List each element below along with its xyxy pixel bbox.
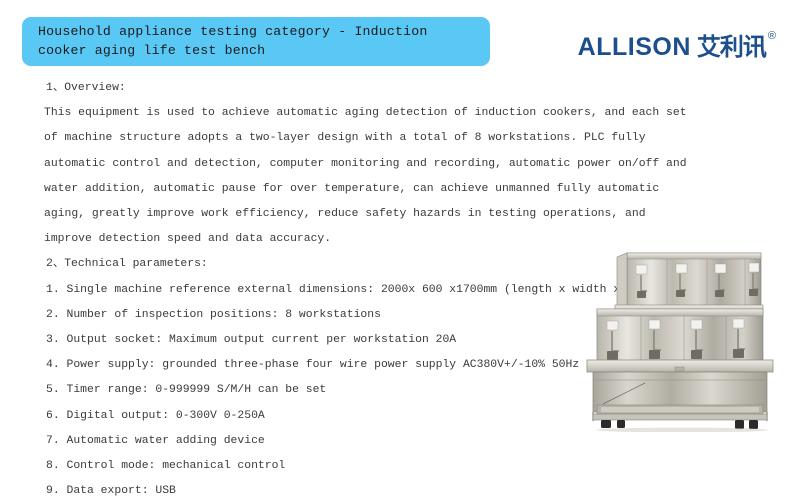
spec-list-item: 3. Output socket: Maximum output current… — [44, 328, 604, 353]
spec-list-item: 6. Digital output: 0-300V 0-250A — [44, 404, 604, 429]
overview-line: of machine structure adopts a two-layer … — [44, 126, 604, 151]
product-photo — [583, 247, 782, 432]
spec-list-item: 7. Automatic water adding device — [44, 429, 604, 454]
overview-line: aging, greatly improve work efficiency, … — [44, 202, 604, 227]
lower-shelf — [593, 405, 767, 421]
spec-list-item: 9. Data export: USB — [44, 479, 604, 504]
overview-heading: 1、Overview: — [44, 76, 604, 101]
spec-list-item: 4. Power supply: grounded three-phase fo… — [44, 353, 604, 378]
test-bench-illustration — [583, 247, 782, 432]
overview-line: water addition, automatic pause for over… — [44, 177, 604, 202]
overview-line: automatic control and detection, compute… — [44, 152, 604, 177]
technical-parameters-heading: 2、Technical parameters: — [44, 252, 604, 277]
page-header: Household appliance testing category - I… — [0, 0, 800, 72]
logo-wordmark-latin: ALLISON — [578, 34, 691, 60]
overview-line: This equipment is used to achieve automa… — [44, 101, 604, 126]
overview-line: improve detection speed and data accurac… — [44, 227, 604, 252]
page-title: Household appliance testing category - I… — [38, 23, 427, 60]
brand-logo: ALLISON 艾利讯 ® — [578, 34, 776, 64]
lower-tier — [597, 309, 763, 365]
spec-list-item: 8. Control mode: mechanical control — [44, 454, 604, 479]
spec-list-item: 1. Single machine reference external dim… — [44, 278, 604, 303]
spec-list-item: 5. Timer range: 0-999999 S/M/H can be se… — [44, 378, 604, 403]
registered-trademark-icon: ® — [768, 31, 776, 42]
spec-list-item: 2. Number of inspection positions: 8 wor… — [44, 303, 604, 328]
logo-wordmark-cjk: 艾利讯 — [697, 34, 766, 60]
title-banner: Household appliance testing category - I… — [22, 17, 490, 66]
upper-tier — [615, 253, 763, 313]
document-body: 1、Overview: This equipment is used to ac… — [44, 76, 604, 504]
